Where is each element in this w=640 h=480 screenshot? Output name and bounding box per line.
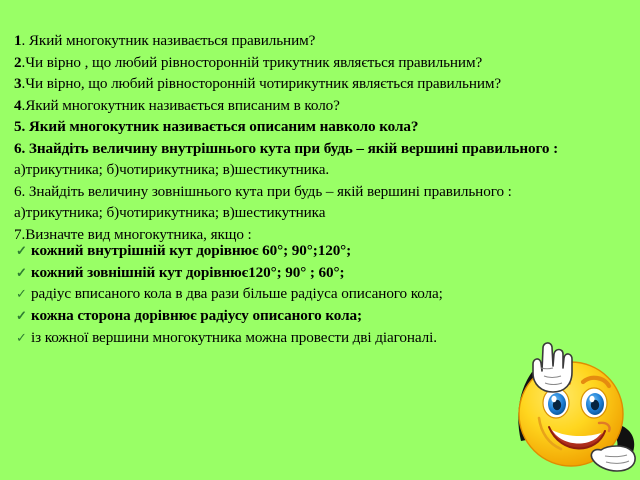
check-icon: ✓ bbox=[16, 305, 29, 327]
sub-answers-row-1: а)трикутника; б)чотирикутника; в)шестику… bbox=[14, 159, 632, 181]
list-item: ✓ кожна сторона дорівнює радіусу описано… bbox=[16, 305, 626, 327]
question-number-6b: 6 bbox=[14, 183, 22, 200]
question-text-2: Чи вірно , що любий рівносторонній трику… bbox=[25, 54, 482, 71]
question-text-3: Чи вірно, що любий рівносторонній чотири… bbox=[25, 75, 501, 92]
question-line-2: 2.Чи вірно , що любий рівносторонній три… bbox=[14, 52, 632, 74]
question-text-6b: Знайдіть величину зовнішнього кута при б… bbox=[29, 183, 512, 200]
lower-hand-glove bbox=[591, 446, 635, 471]
list-item: ✓ кожний внутрішній кут дорівнює 60°; 90… bbox=[16, 240, 626, 262]
check-icon: ✓ bbox=[16, 327, 29, 349]
bullet-list: ✓ кожний внутрішній кут дорівнює 60°; 90… bbox=[16, 240, 626, 349]
bullet-text: радіус вписаного кола в два рази більше … bbox=[31, 283, 443, 305]
question-separator-1: . bbox=[22, 32, 29, 49]
slide-canvas: 1. Який многокутник називається правильн… bbox=[0, 0, 640, 480]
question-list: 1. Який многокутник називається правильн… bbox=[14, 30, 632, 245]
question-line-1: 1. Який многокутник називається правильн… bbox=[14, 30, 632, 52]
question-text-1: Який многокутник називається правильним? bbox=[29, 32, 315, 49]
right-eye bbox=[581, 388, 607, 418]
check-icon: ✓ bbox=[16, 283, 29, 305]
check-icon: ✓ bbox=[16, 262, 29, 284]
smiley-pointing-up-illustration bbox=[505, 338, 640, 480]
question-number-5: 5 bbox=[14, 118, 22, 135]
question-line-3: 3.Чи вірно, що любий рівносторонній чоти… bbox=[14, 73, 632, 95]
question-number-4: 4 bbox=[14, 97, 22, 114]
bullet-text: із кожної вершини многокутника можна про… bbox=[31, 327, 437, 349]
list-item: ✓ радіус вписаного кола в два рази більш… bbox=[16, 283, 626, 305]
question-separator-6b: . bbox=[22, 183, 29, 200]
question-text-4: Який многокутник називається вписаним в … bbox=[25, 97, 340, 114]
question-separator-5: . bbox=[22, 118, 29, 135]
question-number-6: 6 bbox=[14, 140, 22, 157]
question-text-5: Який многокутник називається описаним на… bbox=[29, 118, 418, 135]
question-line-6b: 6. Знайдіть величину зовнішнього кута пр… bbox=[14, 181, 632, 203]
question-text-6: Знайдіть величину внутрішнього кута при … bbox=[29, 140, 558, 157]
sub-answers-row-2: а)трикутника; б)чотирикутника; в)шестику… bbox=[14, 202, 632, 224]
check-icon: ✓ bbox=[16, 240, 29, 262]
pointing-hand-glove bbox=[533, 343, 572, 392]
question-line-5: 5. Який многокутник називається описаним… bbox=[14, 116, 632, 138]
bullet-text: кожний внутрішній кут дорівнює 60°; 90°;… bbox=[31, 240, 351, 262]
question-line-4: 4.Який многокутник називається вписаним … bbox=[14, 95, 632, 117]
list-item: ✓ кожний зовнішній кут дорівнює120°; 90°… bbox=[16, 262, 626, 284]
question-separator-6: . bbox=[22, 140, 29, 157]
question-number-2: 2 bbox=[14, 54, 22, 71]
question-number-3: 3 bbox=[14, 75, 22, 92]
bullet-text: кожний зовнішній кут дорівнює120°; 90° ;… bbox=[31, 262, 344, 284]
question-number-1: 1 bbox=[14, 32, 22, 49]
question-line-6: 6. Знайдіть величину внутрішнього кута п… bbox=[14, 138, 632, 160]
bullet-text: кожна сторона дорівнює радіусу описаного… bbox=[31, 305, 362, 327]
